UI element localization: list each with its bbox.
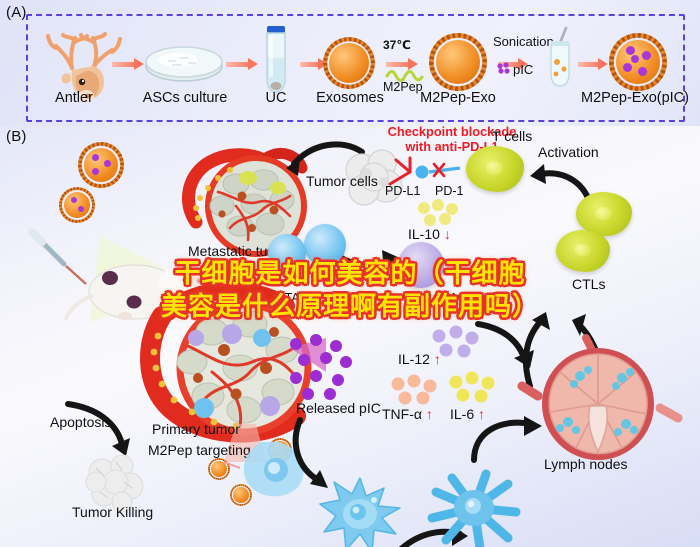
cargo-label: pIC	[513, 62, 533, 77]
tnf-alpha-arrow: ↑	[426, 406, 433, 422]
panel-a-step-label-exosomes: Exosomes	[306, 90, 394, 106]
il-12-label: IL-12 ↑	[398, 351, 441, 367]
activation-label: Activation	[538, 144, 599, 160]
m1-tams-label: M1 TAMs	[416, 291, 468, 305]
targeting-exosome-icon-2	[206, 456, 232, 482]
pd-l1-label: PD-L1	[385, 184, 420, 198]
tumor-killing-label: Tumor Killing	[72, 504, 153, 520]
exosome-icon	[318, 32, 380, 94]
petri-dish-icon	[142, 36, 226, 92]
panel-a-step-label-m2pep-exo-pic: M2Pep-Exo(pIC)	[560, 90, 700, 106]
m2pep-exosome-icon	[424, 28, 492, 96]
tnf-alpha-label: TNF-α ↑	[382, 406, 433, 422]
panel-b: Metastatic tumor Tumor cells Checkpoint …	[0, 126, 700, 547]
il-10-label: IL-10 ↓	[408, 226, 451, 242]
peptide-squiggle-icon	[386, 68, 424, 80]
t-cells-label: T cells	[492, 128, 532, 144]
loaded-exosome-icon	[604, 28, 672, 96]
il-6-cytokine-dots	[448, 374, 504, 406]
pd-1-label: PD-1	[435, 184, 463, 198]
sonicator-tube-icon	[540, 26, 580, 92]
panel-a-tag: (A)	[6, 4, 27, 21]
injected-exosome-icon-2	[56, 184, 98, 226]
lymph-nodes-label: Lymph nodes	[544, 456, 628, 472]
ctl-cell-icon-2	[556, 230, 610, 272]
panel-a-step-label-m2pep-exo: M2Pep-Exo	[408, 90, 508, 106]
il-12-arrow: ↑	[434, 351, 441, 367]
il-10-name: IL-10	[408, 226, 440, 242]
panel-a-step-label-antler: Antler	[38, 90, 110, 106]
ctls-label: CTLs	[572, 276, 605, 292]
process-arrow-1	[112, 60, 144, 69]
il-10-arrow: ↓	[444, 226, 451, 242]
released-pic-label: Released pIC	[296, 400, 381, 416]
tnf-alpha-name: TNF-α	[382, 406, 422, 422]
pic-cluster-icon	[497, 62, 509, 74]
mature-dc-icon	[424, 464, 528, 547]
m1-tam-cell-icon-2	[268, 234, 306, 272]
process-arrow-2	[226, 60, 258, 69]
panel-a-step-label-uc: UC	[246, 90, 306, 106]
m1-tam-cell-icon-1	[304, 224, 346, 266]
primary-tumor-label: Primary tumor	[152, 421, 240, 437]
tumor-cells-label: Tumor cells	[306, 173, 378, 189]
m2-tam-cell-icon-1	[398, 242, 444, 288]
centrifuge-tube-icon	[256, 24, 296, 96]
il-12-name: IL-12	[398, 351, 430, 367]
panel-a: Antler ASCs culture UC	[0, 0, 700, 126]
figure-canvas: Antler ASCs culture UC	[0, 0, 700, 547]
released-pic-dots	[288, 336, 364, 400]
lymph-nodes-icon	[528, 348, 678, 458]
temperature-label: 37℃	[383, 38, 411, 52]
panel-a-step-label-ascs: ASCs culture	[122, 90, 248, 106]
tnf-alpha-cytokine-dots	[390, 376, 446, 408]
apoptosis-label: Apoptosis	[50, 414, 111, 430]
